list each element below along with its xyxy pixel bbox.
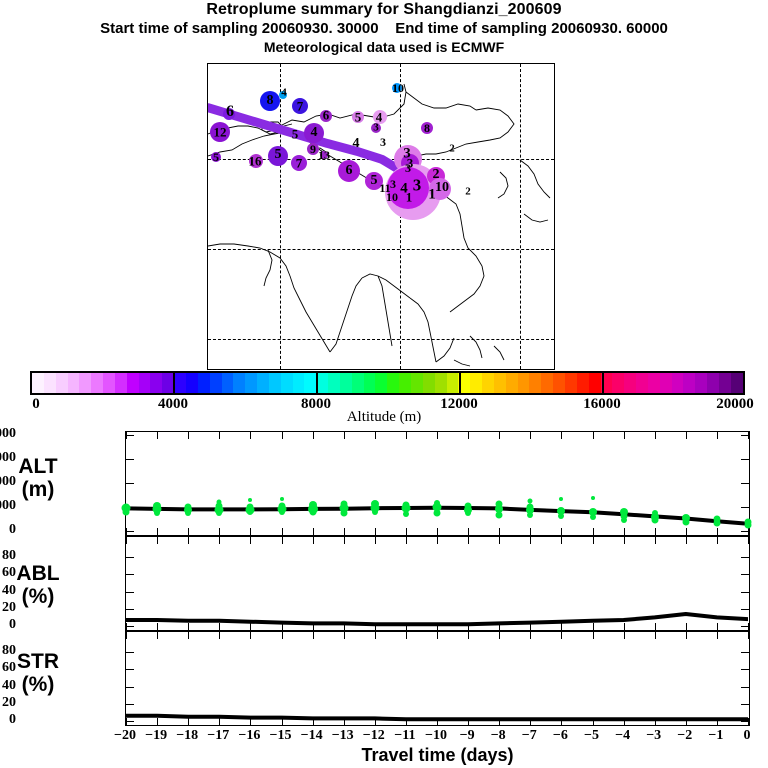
x-tick [593,718,594,725]
cluster-day-label: 3 [413,177,422,194]
colorbar-segment [399,373,411,393]
cluster-day-label: 3 [405,162,411,174]
colorbar-segment [304,373,316,393]
cluster-day-label: 4 [311,126,318,140]
x-tick [188,632,189,639]
colorbar-segment [79,373,91,393]
x-tick [282,632,283,639]
x-tick [655,528,656,535]
x-tick [686,537,687,544]
y-tick [126,531,134,532]
y-tick-label: 40 [2,583,16,599]
colorbar-segment [222,373,234,393]
x-tick [406,632,407,639]
x-tick [624,537,625,544]
x-tick [530,623,531,630]
x-tick [344,632,345,639]
x-tick [593,623,594,630]
y-tick [741,557,749,558]
x-tick [499,718,500,725]
x-tick [593,432,594,439]
cluster-day-label: 9 [310,143,316,155]
cluster-day-label: 8 [424,122,430,134]
x-tick [499,537,500,544]
altitude-colorbar[interactable] [30,371,745,395]
cluster-day-label: 2 [449,144,455,155]
cluster-day-label: 5 [213,151,219,163]
x-tick [188,537,189,544]
colorbar-segment [91,373,103,393]
x-tick [468,432,469,439]
x-tick [219,528,220,535]
x-tick-label: −3 [646,728,661,744]
y-tick-label: 20000 [0,426,16,442]
alt-scatter-point [558,513,564,519]
x-tick [219,632,220,639]
cluster-day-label: 8 [267,94,274,108]
y-tick [126,652,134,653]
x-tick [157,537,158,544]
alt-scatter-point [247,509,253,515]
x-tick-label: −14 [301,728,323,744]
str-plot-area [126,632,749,725]
alt-scatter-point [280,497,284,501]
alt-panel[interactable] [125,431,750,536]
y-tick [741,507,749,508]
colorbar-segment [518,373,530,393]
colorbar-segment [494,373,506,393]
alt-scatter-point [465,510,471,516]
x-tick [344,718,345,725]
alt-scatter-point [496,512,503,519]
x-tick [344,537,345,544]
y-tick [126,557,134,558]
x-tick [406,528,407,535]
cluster-day-label: 3 [380,136,386,148]
alt-scatter-point [745,521,752,528]
x-tick [250,528,251,535]
y-tick-label: 20 [2,600,16,616]
colorbar-segment [281,373,293,393]
colorbar-segment [636,373,648,393]
cluster-day-label: 16 [249,155,262,168]
y-tick [741,721,749,722]
cluster-day-label: 5 [275,148,282,162]
abl-mean-line [126,537,748,629]
x-tick-label: −10 [425,728,447,744]
x-tick [468,623,469,630]
x-tick [686,528,687,535]
x-tick [157,528,158,535]
x-tick [561,537,562,544]
y-tick [741,609,749,610]
x-tick [344,432,345,439]
alt-scatter-point [340,510,347,517]
x-tick [624,528,625,535]
alt-scatter-point [591,496,595,500]
x-tick [530,537,531,544]
colorbar-segment [150,373,162,393]
x-tick [250,537,251,544]
colorbar-segment [672,373,684,393]
x-tick [188,623,189,630]
cluster-day-label: 1 [406,191,413,204]
y-tick [741,483,749,484]
page-title: Retroplume summary for Shangdianzi_20060… [0,0,768,19]
x-tick [686,632,687,639]
x-tick [717,623,718,630]
colorbar-segment [470,373,482,393]
colorbar-segment [529,373,541,393]
y-tick-label: 15000 [0,450,16,466]
x-tick-label: −6 [553,728,568,744]
x-tick [717,432,718,439]
x-tick [499,528,500,535]
alt-scatter-point [248,498,252,502]
met-data-text: Meteorological data used is ECMWF [0,38,768,56]
x-tick [624,623,625,630]
sampling-time-text: Start time of sampling 20060930. 30000 E… [0,19,768,38]
x-tick [157,718,158,725]
alt-scatter-point [621,517,627,523]
colorbar-segment [340,373,352,393]
alt-scatter-point [434,510,441,517]
x-axis-title: Travel time (days) [125,745,750,766]
alt-scatter-point [279,509,285,515]
abl-axis-label: ABL (%) [8,562,68,608]
colorbar-segment [612,373,624,393]
x-tick [530,432,531,439]
cluster-day-label: 6 [323,109,330,122]
x-tick-label: −16 [238,728,260,744]
x-tick [157,623,158,630]
alt-scatter-point [527,512,533,518]
colorbar-segment [139,373,151,393]
colorbar-segment [233,373,245,393]
x-tick [530,718,531,725]
x-tick-label: −15 [270,728,292,744]
y-tick [126,687,134,688]
x-tick [437,623,438,630]
x-tick-label: −8 [491,728,506,744]
colorbar-segment [660,373,672,393]
x-tick [593,537,594,544]
x-tick [250,718,251,725]
y-tick-label: 0 [9,617,16,633]
abl-plot-area [126,537,749,630]
y-tick-label: 40 [2,678,16,694]
x-tick [593,528,594,535]
x-tick [499,632,500,639]
y-tick-label: 10000 [0,474,16,490]
cluster-day-label: 4 [353,137,360,151]
colorbar-segment [245,373,257,393]
x-tick [375,718,376,725]
colorbar-segment [447,373,459,393]
colorbar-segment [44,373,56,393]
x-tick [250,432,251,439]
str-panel[interactable] [125,631,750,726]
y-tick [741,626,749,627]
cluster-day-label: 5 [355,111,362,124]
x-tick [375,432,376,439]
x-tick [530,632,531,639]
colorbar-segment [127,373,139,393]
x-tick [313,432,314,439]
cluster-day-label: 12 [214,126,227,139]
colorbar-segment [115,373,127,393]
colorbar-segment [553,373,565,393]
x-tick [219,718,220,725]
colorbar-divider [602,371,604,395]
x-tick [344,528,345,535]
x-tick [219,432,220,439]
colorbar-segment [257,373,269,393]
y-tick [741,435,749,436]
x-tick [437,432,438,439]
x-tick [282,528,283,535]
y-tick [741,687,749,688]
colorbar-segment [186,373,198,393]
y-tick [741,669,749,670]
y-tick [741,531,749,532]
colorbar-segment [435,373,447,393]
x-tick [686,432,687,439]
cluster-day-label: 10 [435,181,449,195]
cluster-day-label: 7 [296,157,303,170]
y-tick [741,459,749,460]
colorbar-segment [683,373,695,393]
x-tick [717,632,718,639]
cluster-day-label: 1 [428,188,436,203]
x-tick [468,632,469,639]
x-tick [188,528,189,535]
x-tick [561,623,562,630]
colorbar-segment [731,373,743,393]
x-tick [375,623,376,630]
y-tick [126,669,134,670]
x-tick [499,623,500,630]
x-tick-label: −7 [522,728,537,744]
y-tick [126,483,134,484]
cluster-day-label: 2 [465,187,471,198]
x-tick [282,718,283,725]
x-tick [406,718,407,725]
x-tick [655,623,656,630]
colorbar-segment [174,373,186,393]
str-mean-line [126,632,748,724]
x-tick-label: 0 [744,728,751,744]
x-tick [468,537,469,544]
colorbar-segment [411,373,423,393]
y-tick-label: 60 [2,565,16,581]
x-tick [406,537,407,544]
x-tick [686,623,687,630]
alt-scatter-point [682,518,689,525]
x-tick [561,718,562,725]
colorbar-segment [624,373,636,393]
x-tick [188,718,189,725]
x-tick-label: −2 [677,728,692,744]
y-tick [126,704,134,705]
x-tick [717,537,718,544]
map-content: 8471061265438544391351657653333112104311… [208,64,554,369]
colorbar-segment [707,373,719,393]
colorbar-segment [695,373,707,393]
x-tick [375,528,376,535]
x-tick-label: −13 [332,728,354,744]
x-tick-label: −11 [394,728,415,744]
x-tick [593,632,594,639]
alt-scatter-point [185,510,191,516]
abl-panel[interactable] [125,536,750,631]
x-tick [126,632,127,639]
x-tick [219,623,220,630]
alt-plot-area [126,432,749,535]
colorbar-segment [589,373,601,393]
cluster-day-label: 3 [373,123,379,134]
x-tick [437,528,438,535]
colorbar-segment [316,373,328,393]
x-tick-label: −19 [145,728,167,744]
y-tick [126,592,134,593]
colorbar-segment [269,373,281,393]
x-tick [530,528,531,535]
colorbar-segment [198,373,210,393]
x-tick [624,718,625,725]
x-tick [624,432,625,439]
x-tick [126,537,127,544]
alt-scatter-point [154,510,160,516]
y-tick-label: 5000 [0,498,16,514]
x-tick [219,537,220,544]
colorbar-segment [719,373,731,393]
colorbar-segment [210,373,222,393]
x-tick [250,623,251,630]
colorbar-segment [56,373,68,393]
x-tick [157,432,158,439]
x-tick-label: −1 [708,728,723,744]
alt-scatter-point [559,497,563,501]
colorbar-segment [482,373,494,393]
colorbar-segment [364,373,376,393]
title-block: Retroplume summary for Shangdianzi_20060… [0,0,768,56]
y-tick [126,574,134,575]
alt-scatter-point [372,509,378,515]
colorbar-segment [387,373,399,393]
alt-axis-label: ALT (m) [8,455,68,501]
str-axis-label: STR (%) [8,650,68,696]
retroplume-map[interactable]: 8471061265438544391351657653333112104311… [207,63,555,370]
cluster-day-label: 10 [386,191,398,203]
colorbar-divider [459,371,461,395]
colorbar-segment [506,373,518,393]
colorbar-segment [352,373,364,393]
x-tick [561,632,562,639]
x-tick [282,432,283,439]
colorbar-segment [375,373,387,393]
x-tick-label: −5 [584,728,599,744]
y-tick [126,626,134,627]
y-tick-label: 0 [9,522,16,538]
colorbar-segment [32,373,44,393]
cluster-day-label: 3 [390,178,396,190]
alt-scatter-point [403,511,409,517]
x-tick [655,432,656,439]
x-tick [655,632,656,639]
x-tick [655,718,656,725]
y-tick-label: 0 [9,712,16,728]
colorbar-segment [293,373,305,393]
x-tick [188,432,189,439]
x-tick [157,632,158,639]
cluster-day-label: 7 [297,100,304,113]
x-tick [655,537,656,544]
y-tick [741,704,749,705]
alt-scatter-point [309,509,316,516]
x-tick-label: −12 [363,728,385,744]
colorbar-segment [648,373,660,393]
x-tick-label: −20 [114,728,136,744]
y-tick-label: 80 [2,548,16,564]
cluster-day-label: 5 [292,128,299,141]
y-tick [741,592,749,593]
colorbar-divider [173,371,175,395]
x-tick [561,528,562,535]
x-tick [313,623,314,630]
x-tick [282,623,283,630]
x-tick [313,537,314,544]
x-tick [686,718,687,725]
x-tick [437,718,438,725]
x-tick [437,632,438,639]
x-tick [282,537,283,544]
y-tick-label: 60 [2,660,16,676]
cluster-day-label: 5 [371,174,378,188]
colorbar-segment [565,373,577,393]
y-tick [126,435,134,436]
x-tick [313,528,314,535]
cluster-day-label: 6 [346,164,353,178]
x-tick [624,632,625,639]
colorbar-segment [577,373,589,393]
y-tick-label: 20 [2,695,16,711]
y-tick-label: 80 [2,643,16,659]
colorbar-divider [316,371,318,395]
alt-scatter-point [651,517,658,524]
alt-scatter-point [216,510,222,516]
alt-scatter-point [590,514,596,520]
x-tick [437,537,438,544]
colorbar-segment [423,373,435,393]
x-tick [250,632,251,639]
colorbar-segment [541,373,553,393]
y-tick [741,574,749,575]
x-tick-label: −17 [207,728,229,744]
y-tick [126,609,134,610]
x-tick [748,537,749,544]
x-tick [406,432,407,439]
colorbar-segment [103,373,115,393]
cluster-day-label: 10 [392,82,404,94]
y-tick [741,652,749,653]
cluster-day-label: 13 [318,149,330,161]
colorbar-segment [68,373,80,393]
x-tick [499,432,500,439]
x-tick [717,718,718,725]
x-tick [468,528,469,535]
x-tick [375,632,376,639]
